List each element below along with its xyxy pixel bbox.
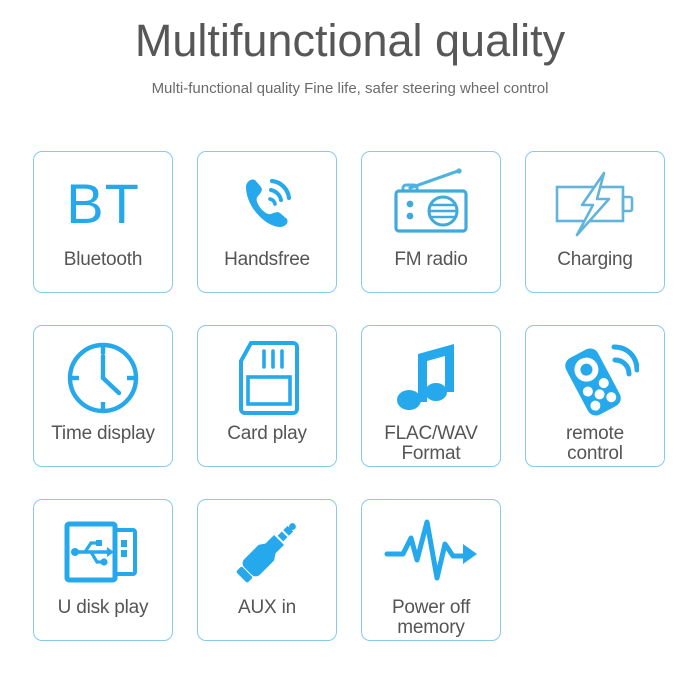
feature-card-u-disk-play[interactable]: U disk play [33, 499, 173, 641]
feature-card-bluetooth[interactable]: BT Bluetooth [33, 151, 173, 293]
battery-charging-icon [526, 158, 664, 250]
page-header: Multifunctional quality Multi-functional… [0, 0, 700, 98]
sd-card-icon [198, 332, 336, 424]
feature-grid: BT Bluetooth Handsfree [33, 151, 667, 673]
clock-icon [34, 332, 172, 424]
feature-card-remote-control[interactable]: remote control [525, 325, 665, 467]
feature-label: Handsfree [222, 250, 312, 270]
feature-card-time-display[interactable]: Time display [33, 325, 173, 467]
bt-text-icon: BT [34, 158, 172, 250]
feature-card-handsfree[interactable]: Handsfree [197, 151, 337, 293]
feature-row-1: BT Bluetooth Handsfree [33, 151, 667, 293]
feature-label: remote control [564, 424, 626, 464]
feature-label: Charging [555, 250, 635, 270]
feature-label: FM radio [392, 250, 469, 270]
usb-flash-drive-icon [34, 506, 172, 598]
feature-label: AUX in [236, 598, 298, 618]
page-subtitle: Multi-functional quality Fine life, safe… [0, 80, 700, 98]
feature-label: Bluetooth [62, 250, 145, 270]
remote-control-icon [526, 332, 664, 424]
feature-card-fm-radio[interactable]: FM radio [361, 151, 501, 293]
bt-text-label: BT [66, 176, 140, 232]
feature-row-3: U disk play AUX in [33, 499, 667, 641]
phone-handset-icon [198, 158, 336, 250]
feature-label: U disk play [56, 598, 151, 618]
feature-card-card-play[interactable]: Card play [197, 325, 337, 467]
feature-label: Power off memory [390, 598, 472, 638]
waveform-arrow-icon [362, 506, 500, 598]
feature-label: Time display [49, 424, 157, 444]
feature-card-charging[interactable]: Charging [525, 151, 665, 293]
feature-label: Card play [225, 424, 309, 444]
feature-card-aux-in[interactable]: AUX in [197, 499, 337, 641]
radio-icon [362, 158, 500, 250]
page-title: Multifunctional quality [0, 16, 700, 66]
feature-card-flac-wav[interactable]: FLAC/WAV Format [361, 325, 501, 467]
feature-label: FLAC/WAV Format [382, 424, 479, 464]
aux-jack-icon [198, 506, 336, 598]
feature-card-power-off-memory[interactable]: Power off memory [361, 499, 501, 641]
music-note-icon [362, 332, 500, 424]
feature-row-2: Time display Card play [33, 325, 667, 467]
